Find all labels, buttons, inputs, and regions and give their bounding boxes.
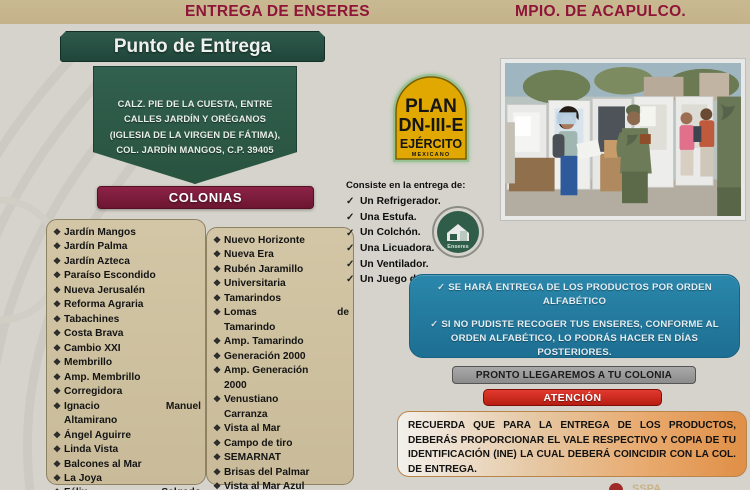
- address-line-1: CALZ. PIE DE LA CUESTA, ENTRE: [110, 97, 280, 112]
- list-item: ❖Linda Vista: [53, 443, 201, 457]
- diamond-bullet-icon: ❖: [53, 284, 64, 298]
- corner-logo: SSPA: [602, 476, 698, 490]
- list-item-label: Un Refrigerador.: [360, 194, 441, 210]
- list-item-label: Universitaria: [224, 277, 349, 291]
- list-item-label: Brisas del Palmar: [224, 466, 349, 480]
- list-item-continuation: Altamirano: [53, 414, 201, 428]
- diamond-bullet-icon: ❖: [213, 263, 224, 277]
- list-item-label: Paraíso Escondido: [64, 269, 201, 283]
- list-item-label: Vista al Mar: [224, 422, 349, 436]
- list-item-label: Una Estufa.: [360, 210, 417, 226]
- diamond-bullet-icon: ❖: [213, 350, 224, 364]
- list-item-label: Linda Vista: [64, 443, 201, 457]
- list-item-label: Nueva Era: [224, 248, 349, 262]
- diamond-bullet-icon: ❖: [53, 313, 64, 327]
- list-item: ❖SEMARNAT: [213, 451, 349, 465]
- list-item-label-part: Ignacio: [64, 400, 100, 414]
- list-item: ❖Jardín Palma: [53, 240, 201, 254]
- list-item-label: Vista al Mar Azul: [224, 480, 349, 490]
- diamond-bullet-icon: ❖: [53, 429, 64, 443]
- list-item-continuation: 2000: [213, 379, 349, 393]
- diamond-bullet-icon: ❖: [53, 443, 64, 457]
- diamond-bullet-icon: ❖: [213, 234, 224, 248]
- list-item: ❖Tamarindos: [213, 292, 349, 306]
- list-item-label: FélixSalgado: [64, 486, 201, 490]
- list-item-label: Venustiano: [224, 393, 349, 407]
- list-item-label: Rubén Jaramillo: [224, 263, 349, 277]
- notice-line-2: ✓ SI NO PUDISTE RECOGER TUS ENSERES, CON…: [420, 318, 729, 360]
- list-item-label: Corregidora: [64, 385, 201, 399]
- diamond-bullet-icon: ❖: [53, 472, 64, 486]
- svg-text:DN-III-E: DN-III-E: [399, 115, 464, 135]
- diamond-bullet-icon: ❖: [213, 480, 224, 490]
- list-item: ❖Venustiano: [213, 393, 349, 407]
- diamond-bullet-icon: ❖: [53, 226, 64, 240]
- colonias-list-column-2: ❖Nuevo Horizonte ❖Nueva Era ❖Rubén Jaram…: [206, 227, 354, 485]
- notice-text-2: SI NO PUDISTE RECOGER TUS ENSERES, CONFO…: [441, 319, 719, 358]
- delivery-point-title: Punto de Entrega: [60, 31, 325, 62]
- list-item: ❖Cambio XXI: [53, 342, 201, 356]
- diamond-bullet-icon: ❖: [213, 451, 224, 465]
- list-item: ❖Vista al Mar Azul: [213, 480, 349, 490]
- list-item: ❖Campo de tiro: [213, 437, 349, 451]
- list-item-label-part: Carranza: [224, 408, 349, 422]
- list-item: ❖Nuevo Horizonte: [213, 234, 349, 248]
- enseres-badge-icon: Enseres: [432, 206, 484, 258]
- svg-text:Enseres: Enseres: [447, 244, 468, 250]
- diamond-bullet-icon: ❖: [213, 335, 224, 349]
- delivery-photo: [505, 63, 741, 216]
- colonias-list-2: ❖Nuevo Horizonte ❖Nueva Era ❖Rubén Jaram…: [213, 234, 349, 490]
- list-item-label: IgnacioManuel: [64, 400, 201, 414]
- list-item-label: Costa Brava: [64, 327, 201, 341]
- list-item: ❖Reforma Agraria: [53, 298, 201, 312]
- list-item-label-part: 2000: [224, 379, 349, 393]
- list-item: ❖Ángel Aguirre: [53, 429, 201, 443]
- diamond-bullet-icon: ❖: [53, 255, 64, 269]
- list-item: ❖Amp. Generación: [213, 364, 349, 378]
- address-line-4: COL. JARDÍN MANGOS, C.P. 39405: [110, 143, 280, 158]
- check-icon: ✓: [346, 257, 360, 272]
- list-item-label-part: de: [337, 306, 349, 320]
- list-item: ❖Paraíso Escondido: [53, 269, 201, 283]
- list-item-label: Jardín Mangos: [64, 226, 201, 240]
- list-item-label-part: Manuel: [166, 400, 201, 414]
- notice-text-1: SE HARÁ ENTREGA DE LOS PRODUCTOS POR ORD…: [448, 282, 712, 307]
- check-icon: ✓: [346, 241, 360, 256]
- header-title-right: MPIO. DE ACAPULCO.: [515, 3, 686, 21]
- address-line-3: (IGLESIA DE LA VIRGEN DE FÁTIMA),: [110, 128, 280, 143]
- diamond-bullet-icon: ❖: [53, 458, 64, 472]
- delivery-point-address-box: CALZ. PIE DE LA CUESTA, ENTRE CALLES JAR…: [93, 66, 297, 184]
- check-icon: ✓: [346, 272, 360, 287]
- header-bar: ENTREGA DE ENSERES MPIO. DE ACAPULCO.: [0, 0, 750, 24]
- diamond-bullet-icon: ❖: [53, 356, 64, 370]
- list-item: ❖Universitaria: [213, 277, 349, 291]
- list-item-label-part: Lomas: [224, 306, 257, 320]
- svg-text:EJÉRCITO: EJÉRCITO: [400, 136, 463, 151]
- list-item-label: Reforma Agraria: [64, 298, 201, 312]
- list-item-label: Membrillo: [64, 356, 201, 370]
- list-item: ❖Corregidora: [53, 385, 201, 399]
- header-title-left: ENTREGA DE ENSERES: [185, 3, 370, 21]
- list-item: ❖Amp. Tamarindo: [213, 335, 349, 349]
- attention-banner: ATENCIÓN: [483, 389, 662, 406]
- list-item-label: Amp. Generación: [224, 364, 349, 378]
- reminder-box: RECUERDA QUE PARA LA ENTREGA DE LOS PROD…: [397, 411, 747, 477]
- diamond-bullet-icon: ❖: [53, 342, 64, 356]
- check-icon: ✓: [346, 194, 360, 209]
- list-item-label: Nueva Jerusalén: [64, 284, 201, 298]
- check-icon: ✓: [437, 282, 445, 293]
- list-item: ❖Amp. Membrillo: [53, 371, 201, 385]
- diamond-bullet-icon: ❖: [213, 393, 224, 407]
- list-item-continuation: Tamarindo: [213, 321, 349, 335]
- list-item: ❖Lomasde: [213, 306, 349, 320]
- diamond-bullet-icon: ❖: [53, 269, 64, 283]
- diamond-bullet-icon: ❖: [213, 437, 224, 451]
- list-item-label: Tabachines: [64, 313, 201, 327]
- notice-line-1: ✓ SE HARÁ ENTREGA DE LOS PRODUCTOS POR O…: [420, 281, 729, 309]
- list-item: ❖Vista al Mar: [213, 422, 349, 436]
- list-item-label: Tamarindos: [224, 292, 349, 306]
- list-item-label: Una Licuadora.: [360, 241, 434, 257]
- list-item: ❖Jardín Azteca: [53, 255, 201, 269]
- list-item-label: Lomasde: [224, 306, 349, 320]
- colonias-list-column-1: ❖Jardín Mangos ❖Jardín Palma ❖Jardín Azt…: [46, 219, 206, 485]
- list-item: ❖Balcones al Mar: [53, 458, 201, 472]
- list-item-label-part: Salgado: [161, 486, 201, 490]
- diamond-bullet-icon: ❖: [53, 486, 64, 490]
- list-item-continuation: Carranza: [213, 408, 349, 422]
- presentation-slide: ENTREGA DE ENSERES MPIO. DE ACAPULCO. Pu…: [0, 0, 750, 490]
- list-item: ❖Tabachines: [53, 313, 201, 327]
- address-line-2: CALLES JARDÍN Y ORÉGANOS: [110, 112, 280, 127]
- diamond-bullet-icon: ❖: [213, 277, 224, 291]
- diamond-bullet-icon: ❖: [53, 371, 64, 385]
- delivery-point-address: CALZ. PIE DE LA CUESTA, ENTRE CALLES JAR…: [104, 97, 286, 158]
- list-item: ❖Jardín Mangos: [53, 226, 201, 240]
- list-item-label: Generación 2000: [224, 350, 349, 364]
- list-item: ❖Rubén Jaramillo: [213, 263, 349, 277]
- diamond-bullet-icon: ❖: [53, 385, 64, 399]
- list-item-label: Jardín Azteca: [64, 255, 201, 269]
- list-item-label: Amp. Membrillo: [64, 371, 201, 385]
- svg-text:PLAN: PLAN: [405, 96, 457, 117]
- plan-dn3e-logo: PLAN DN-III-E EJÉRCITO MEXICANO: [385, 66, 477, 166]
- diamond-bullet-icon: ❖: [53, 298, 64, 312]
- check-icon: ✓: [430, 319, 438, 330]
- list-item-label-part: Altamirano: [64, 414, 201, 428]
- list-item: ❖Generación 2000: [213, 350, 349, 364]
- list-item-label-part: Tamarindo: [224, 321, 349, 335]
- list-item-label: SEMARNAT: [224, 451, 349, 465]
- list-item-label: La Joya: [64, 472, 201, 486]
- colonias-list-1: ❖Jardín Mangos ❖Jardín Palma ❖Jardín Azt…: [53, 226, 201, 490]
- list-item: ❖Nueva Jerusalén: [53, 284, 201, 298]
- check-icon: ✓: [346, 210, 360, 225]
- check-icon: ✓: [346, 226, 360, 241]
- list-item-label: Balcones al Mar: [64, 458, 201, 472]
- list-item: ❖Costa Brava: [53, 327, 201, 341]
- diamond-bullet-icon: ❖: [213, 422, 224, 436]
- list-item: ❖IgnacioManuel: [53, 400, 201, 414]
- colonias-banner: COLONIAS: [97, 186, 314, 209]
- list-item-label: Un Colchón.: [360, 225, 421, 241]
- list-item-label-part: Félix: [64, 486, 87, 490]
- diamond-bullet-icon: ❖: [53, 327, 64, 341]
- list-item-label: Nuevo Horizonte: [224, 234, 349, 248]
- diamond-bullet-icon: ❖: [213, 466, 224, 480]
- list-item: ❖Brisas del Palmar: [213, 466, 349, 480]
- diamond-bullet-icon: ❖: [213, 248, 224, 262]
- reminder-text: RECUERDA QUE PARA LA ENTREGA DE LOS PROD…: [408, 419, 736, 478]
- list-item-label: Cambio XXI: [64, 342, 201, 356]
- list-item-label: Ángel Aguirre: [64, 429, 201, 443]
- diamond-bullet-icon: ❖: [213, 364, 224, 378]
- svg-text:SSPA: SSPA: [632, 483, 661, 490]
- list-item-label: Jardín Palma: [64, 240, 201, 254]
- list-item-label: Amp. Tamarindo: [224, 335, 349, 349]
- list-item-label: Un Ventilador.: [360, 257, 429, 273]
- list-item: ✓Un Ventilador.: [346, 257, 546, 273]
- svg-text:MEXICANO: MEXICANO: [412, 152, 450, 158]
- list-item: ❖Nueva Era: [213, 248, 349, 262]
- list-item: ❖Membrillo: [53, 356, 201, 370]
- photo-frame: [500, 58, 746, 221]
- diamond-bullet-icon: ❖: [213, 292, 224, 306]
- list-item: ❖La Joya: [53, 472, 201, 486]
- diamond-bullet-icon: ❖: [53, 400, 64, 414]
- alphabetical-order-notice: ✓ SE HARÁ ENTREGA DE LOS PRODUCTOS POR O…: [409, 274, 740, 358]
- coming-soon-banner: PRONTO LLEGAREMOS A TU COLONIA: [452, 366, 696, 384]
- list-item-label: Campo de tiro: [224, 437, 349, 451]
- diamond-bullet-icon: ❖: [213, 306, 224, 320]
- diamond-bullet-icon: ❖: [53, 240, 64, 254]
- list-item: ❖FélixSalgado: [53, 486, 201, 490]
